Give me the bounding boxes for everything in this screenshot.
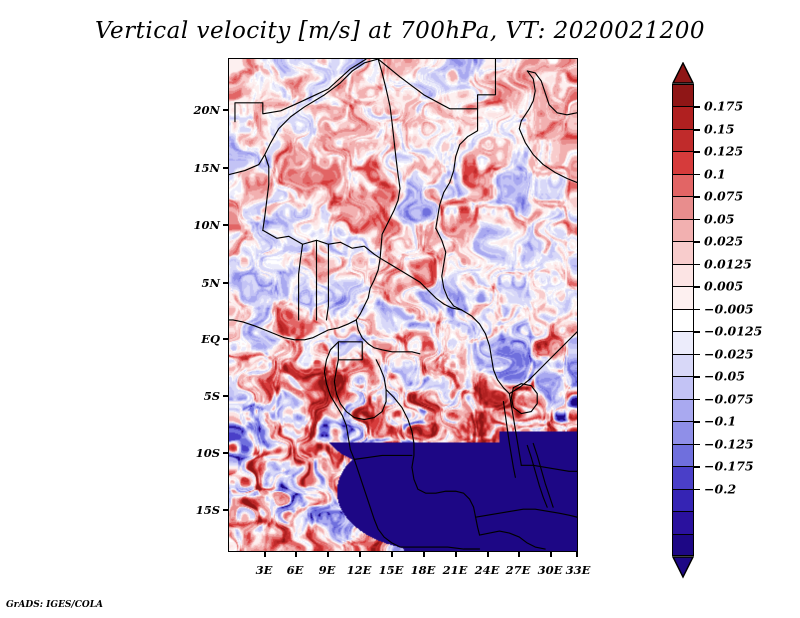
lat-label-5N: 5N [201, 276, 220, 290]
colorbar-band [672, 129, 694, 151]
lon-label-24E: 24E [475, 563, 500, 577]
lon-label-18E: 18E [411, 563, 436, 577]
colorbar-band [672, 106, 694, 128]
colorbar-band [672, 421, 694, 443]
colorbar-tick [694, 151, 700, 153]
colorbar-tick [694, 399, 700, 401]
lat-label-5S: 5S [204, 389, 220, 403]
lat-label-10S: 10S [196, 446, 220, 460]
colorbar-tick [694, 219, 700, 221]
lon-label-21E: 21E [443, 563, 468, 577]
colorbar-label: 0.05 [704, 211, 734, 226]
colorbar-band [672, 84, 694, 106]
map-plot-area[interactable] [228, 58, 578, 552]
country-borders-overlay [229, 59, 577, 551]
colorbar-tick [694, 489, 700, 491]
colorbar-band [672, 151, 694, 173]
attribution-footer: GrADS: IGES/COLA [6, 600, 103, 610]
lon-label-27E: 27E [506, 563, 531, 577]
colorbar-label: 0.15 [704, 121, 734, 136]
lon-label-3E: 3E [256, 563, 273, 577]
colorbar-band [672, 444, 694, 466]
lat-label-EQ: EQ [201, 332, 220, 346]
lat-label-15N: 15N [193, 161, 220, 175]
colorbar-tick [694, 129, 700, 131]
figure-root: Vertical velocity [m/s] at 700hPa, VT: 2… [0, 0, 800, 618]
lat-label-20N: 20N [193, 103, 220, 117]
colorbar-tick [694, 376, 700, 378]
colorbar-tick [694, 466, 700, 468]
colorbar-band [672, 399, 694, 421]
colorbar-label: 0.0125 [704, 256, 752, 271]
colorbar-label: −0.2 [704, 481, 736, 496]
colorbar-tick [694, 354, 700, 356]
colorbar-label: −0.025 [704, 346, 754, 361]
colorbar-label: 0.025 [704, 234, 743, 249]
colorbar-band [672, 174, 694, 196]
colorbar-tick [694, 241, 700, 243]
colorbar-label: −0.0125 [704, 324, 762, 339]
colorbar-arrow-up-icon [672, 62, 694, 84]
colorbar-band [672, 534, 694, 556]
colorbar-label: 0.005 [704, 279, 743, 294]
lon-label-12E: 12E [347, 563, 372, 577]
colorbar-tick [694, 309, 700, 311]
colorbar-band [672, 286, 694, 308]
lon-label-30E: 30E [538, 563, 563, 577]
colorbar-tick [694, 421, 700, 423]
colorbar-band [672, 331, 694, 353]
colorbar-band [672, 376, 694, 398]
colorbar-label: −0.125 [704, 436, 754, 451]
colorbar-band [672, 489, 694, 511]
colorbar-band [672, 309, 694, 331]
colorbar-band [672, 354, 694, 376]
colorbar-band [672, 466, 694, 488]
colorbar-tick [694, 264, 700, 266]
colorbar-label: −0.05 [704, 369, 745, 384]
colorbar-tick [694, 286, 700, 288]
colorbar[interactable]: 0.1750.150.1250.10.0750.050.0250.01250.0… [668, 58, 798, 563]
colorbar-tick [694, 331, 700, 333]
colorbar-label: −0.175 [704, 459, 754, 474]
colorbar-tick [694, 106, 700, 108]
lon-label-15E: 15E [379, 563, 404, 577]
lat-label-10N: 10N [193, 218, 220, 232]
colorbar-label: −0.075 [704, 391, 754, 406]
colorbar-arrow-down-icon [672, 555, 694, 579]
colorbar-band [672, 264, 694, 286]
colorbar-label: 0.075 [704, 189, 743, 204]
colorbar-label: −0.1 [704, 414, 736, 429]
lon-label-9E: 9E [319, 563, 336, 577]
colorbar-tick [694, 196, 700, 198]
colorbar-tick [694, 444, 700, 446]
colorbar-label: 0.175 [704, 99, 743, 114]
colorbar-tick [694, 174, 700, 176]
latitude-axis: 20N 15N 10N 5N EQ 5S 10S 15S [186, 0, 220, 618]
colorbar-band [672, 511, 694, 533]
colorbar-bands [672, 58, 694, 563]
colorbar-label: 0.1 [704, 166, 726, 181]
colorbar-label: 0.125 [704, 144, 743, 159]
lon-label-6E: 6E [287, 563, 304, 577]
colorbar-band [672, 219, 694, 241]
lon-label-33E: 33E [566, 563, 591, 577]
colorbar-label: −0.005 [704, 301, 754, 316]
lat-label-15S: 15S [196, 503, 220, 517]
page-title: Vertical velocity [m/s] at 700hPa, VT: 2… [0, 18, 800, 44]
colorbar-band [672, 196, 694, 218]
colorbar-band [672, 241, 694, 263]
